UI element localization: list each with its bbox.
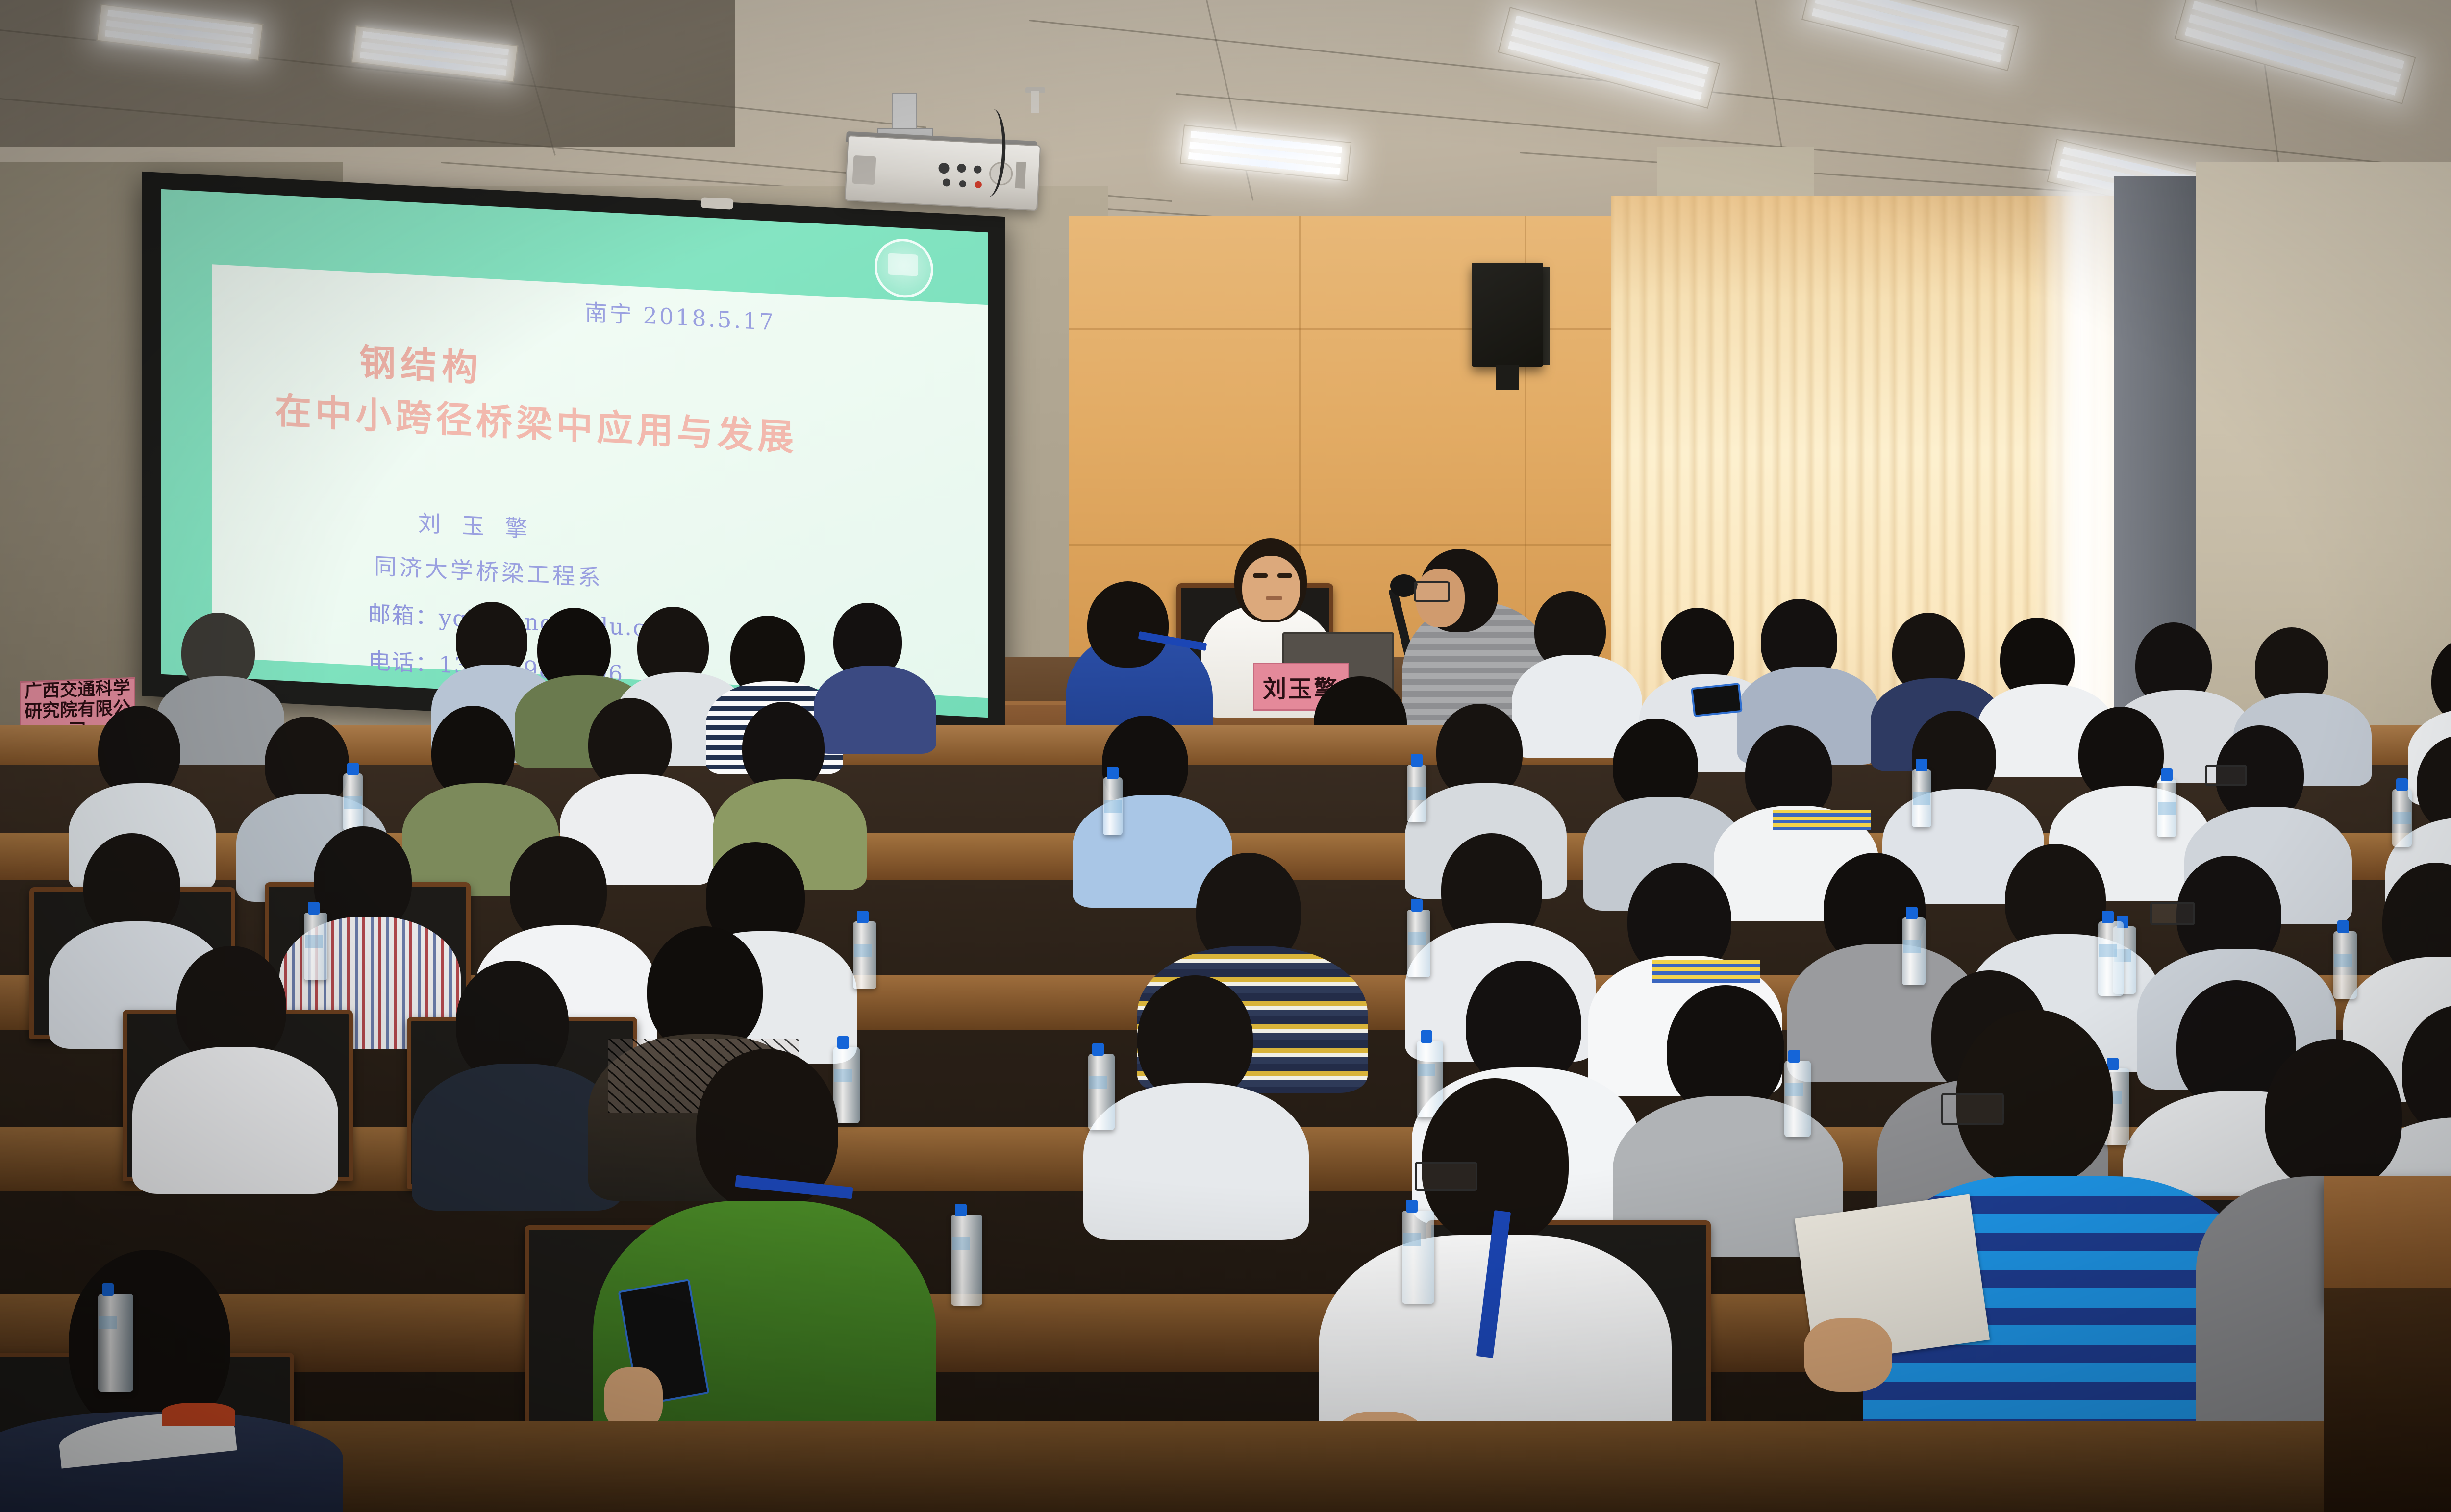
smoke-detector-icon (700, 197, 733, 209)
audience-body (1083, 1083, 1309, 1240)
audience-body (132, 1047, 338, 1194)
slide-affiliation: 同济大学桥梁工程系 (374, 548, 603, 593)
water-bottle[interactable] (2098, 921, 2124, 996)
panelist-glasses (1414, 581, 1450, 602)
water-bottle[interactable] (1784, 1061, 1811, 1137)
hand (1804, 1318, 1892, 1392)
presenter-eye-right (1277, 573, 1292, 578)
water-bottle[interactable] (951, 1215, 982, 1306)
presenter-face (1242, 556, 1300, 620)
polo-collar-stripe (1773, 810, 1871, 830)
wall-speaker-icon (1472, 263, 1543, 367)
audience-body (814, 666, 936, 754)
projector-lens (852, 155, 876, 185)
slide-place-date: 南宁 2018.5.17 (585, 295, 775, 337)
water-bottle[interactable] (2392, 789, 2412, 847)
water-bottle[interactable] (1417, 1041, 1443, 1117)
water-bottle[interactable] (833, 1047, 860, 1123)
water-bottle[interactable] (1407, 910, 1430, 977)
water-bottle[interactable] (2333, 931, 2357, 999)
audience-head (2265, 1039, 2402, 1191)
audience-glasses (2150, 902, 2195, 925)
water-bottle[interactable] (304, 913, 327, 980)
frontrow-blue-polo-head (1087, 581, 1169, 668)
water-bottle[interactable] (98, 1294, 133, 1392)
water-bottle[interactable] (1088, 1054, 1115, 1130)
water-bottle[interactable] (1407, 765, 1426, 822)
polo-collar-stripe (1652, 960, 1760, 983)
water-bottle[interactable] (2157, 779, 2176, 837)
whiteshirt-glasses (1415, 1162, 1477, 1191)
water-bottle[interactable] (1902, 917, 1926, 985)
audience-glasses (2205, 765, 2247, 786)
speaker-bracket (1496, 365, 1519, 390)
water-bottle[interactable] (853, 921, 876, 989)
bluestripe-glasses (1941, 1093, 2004, 1125)
water-bottle[interactable] (343, 773, 363, 831)
water-bottle[interactable] (1103, 777, 1123, 835)
water-bottle[interactable] (1402, 1211, 1434, 1304)
slide-author: 刘 玉 擎 (418, 505, 534, 544)
foreground-desk-front-right (2324, 1288, 2451, 1512)
collar-orange (162, 1403, 235, 1426)
audience-head (1667, 985, 1784, 1115)
conference-room-photo: 南宁 2018.5.17 钢结构 在中小跨径桥梁中应用与发展 刘 玉 擎 同济大… (0, 0, 2451, 1512)
fire-sprinkler-icon (1031, 91, 1039, 113)
foreground-desk-right (2324, 1176, 2451, 1304)
phone-camera[interactable] (1691, 683, 1743, 717)
slide-title-line1: 钢结构 (359, 333, 483, 392)
presenter-mouth (1266, 596, 1282, 600)
slide-title-line2: 在中小跨径桥梁中应用与发展 (275, 381, 798, 461)
water-bottle[interactable] (1912, 769, 1931, 827)
presenter-eye-left (1253, 573, 1268, 578)
tongji-seal-icon (875, 237, 933, 299)
desk-row-front (0, 1421, 2451, 1512)
